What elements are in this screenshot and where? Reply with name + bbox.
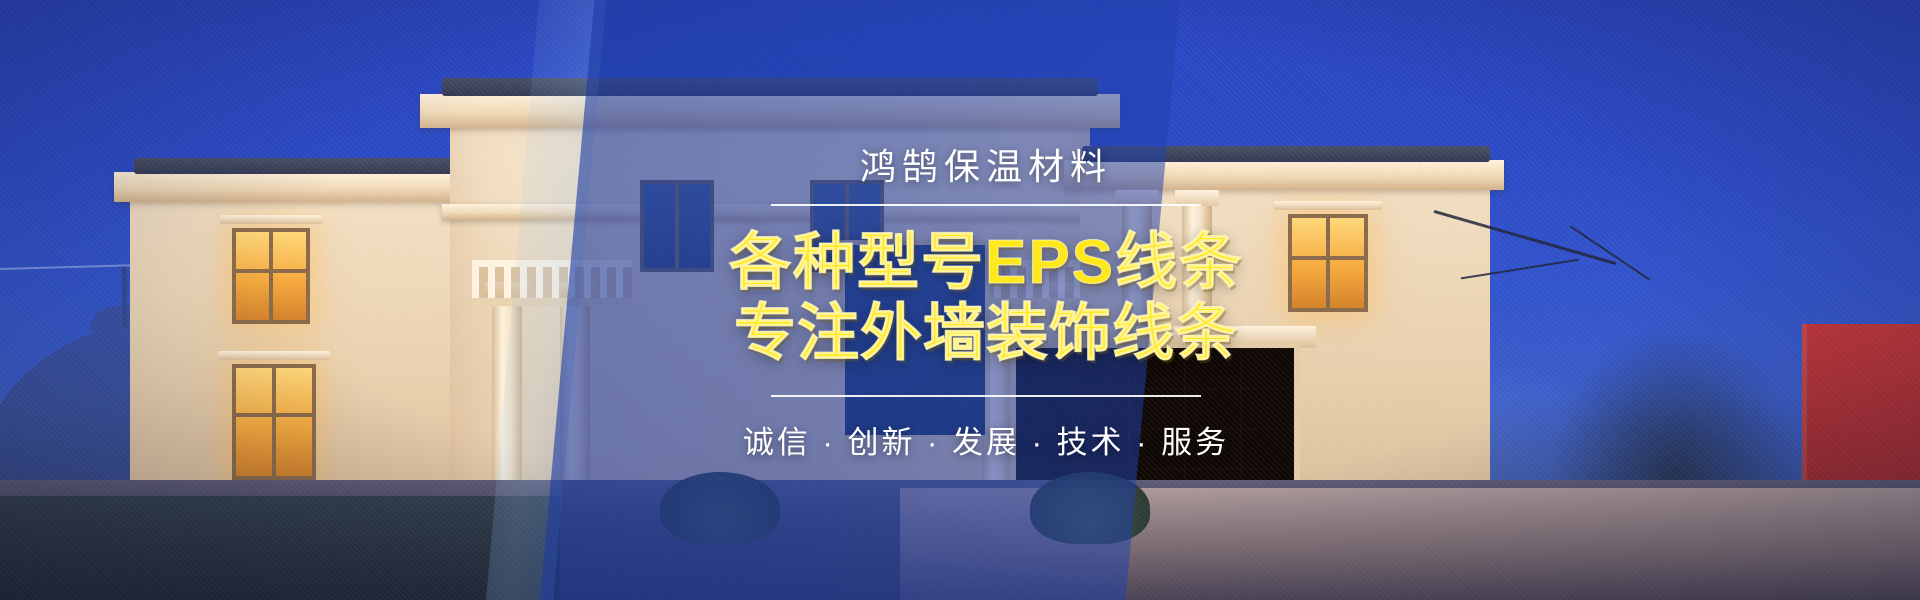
tagline: 诚信 · 创新 · 发展 · 技术 · 服务 (743, 417, 1229, 462)
banner-content: 鸿鹄保温材料 各种型号EPS线条 专注外墙装饰线条 诚信 · 创新 · 发展 ·… (0, 0, 1920, 600)
headline-line-2: 专注外墙装饰线条 (729, 299, 1243, 370)
headline: 各种型号EPS线条 专注外墙装饰线条 (729, 228, 1243, 369)
hero-banner: 鸿鹄保温材料 各种型号EPS线条 专注外墙装饰线条 诚信 · 创新 · 发展 ·… (0, 0, 1920, 600)
headline-line-1: 各种型号EPS线条 (729, 228, 1243, 299)
brand-name: 鸿鹄保温材料 (860, 138, 1112, 190)
divider-bottom (771, 395, 1201, 397)
divider-top (771, 204, 1201, 206)
